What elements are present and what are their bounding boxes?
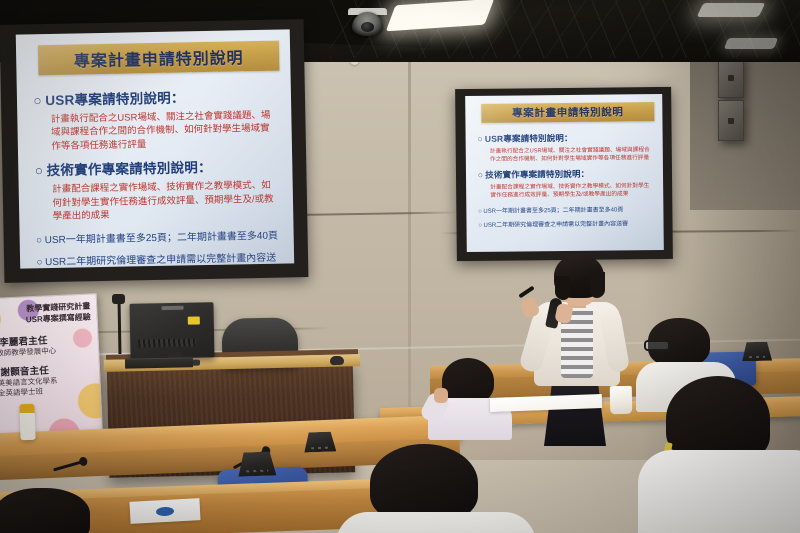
paper-cup — [610, 386, 632, 414]
audience-hair — [370, 444, 478, 522]
event-banner: 教學實踐研究計畫 USR專案撰寫經驗 人：李麗君主任 教師教學發展中心 人：謝顥… — [0, 293, 103, 445]
audience-hand — [434, 388, 448, 403]
wall-speaker-icon — [718, 100, 744, 141]
bullet-icon: ○ — [36, 257, 42, 268]
wall-speaker-icon — [718, 57, 744, 98]
slide-heading-1-text: USR專案請特別說明： — [45, 91, 185, 109]
ceiling-light — [697, 3, 766, 17]
ceiling-light — [724, 38, 778, 49]
bullet-icon: ○ — [478, 170, 483, 180]
screen-surface-left: 專案計畫申請特別說明 ○USR專案請特別說明： 計畫執行配合之USR場域、關注之… — [16, 29, 294, 268]
monitor-vent — [138, 339, 196, 348]
slide-heading-2-text: 技術實作專案請特別說明： — [46, 160, 212, 178]
slide-note-1: ○USR一年期計畫書至多25頁；二年期計畫書至多40頁 — [478, 204, 653, 215]
monitor-sticker — [188, 316, 200, 324]
keyboard — [125, 357, 193, 368]
slide-body: ○USR專案請特別說明： 計畫執行配合之USR場域、關注之社會實踐議題、場域與課… — [465, 121, 663, 230]
slide-title: 專案計畫申請特別說明 — [46, 44, 272, 72]
podium-microphone-head — [112, 294, 125, 304]
slide-title-bar: 專案計畫申請特別說明 — [38, 41, 280, 76]
dome-camera-icon — [352, 12, 383, 36]
audience-torso — [638, 450, 800, 533]
slide-heading-1: ○USR專案請特別說明： — [33, 85, 277, 110]
slide-paragraph-2: 計畫配合課程之實作場域、技術實作之教學模式、如何針對學生實作任務進行成效評量、預… — [35, 179, 280, 224]
screen-surface-right: 專案計畫申請特別說明 ○USR專案請特別說明： 計畫執行配合之USR場域、關注之… — [465, 94, 664, 252]
audience-member-foreground-right — [646, 376, 800, 533]
slide-note-2-text: USR二年期研究倫理審查之申請需以完整計畫內容送審 — [483, 222, 628, 230]
slide-note-1: ○USR一年期計畫書至多25頁；二年期計畫書至多40頁 — [36, 226, 280, 246]
water-bottle — [19, 404, 35, 441]
slide-paragraph-1: 計畫執行配合之USR場域、關注之社會實踐議題、場域與課程合作之間的合作機制、如何… — [34, 109, 279, 154]
slide-heading-1-text: USR專案請特別說明： — [485, 133, 573, 144]
bullet-icon: ○ — [478, 223, 482, 229]
audience-torso — [336, 512, 536, 533]
slide-right: 專案計畫申請特別說明 ○USR專案請特別說明： 計畫執行配合之USR場域、關注之… — [465, 102, 664, 252]
audience-member-foreground-center — [352, 444, 522, 533]
conference-microphone-unit — [742, 342, 772, 362]
slide-title: 專案計畫申請特別說明 — [487, 104, 649, 121]
mouse-icon — [330, 356, 344, 365]
audience-member-foreground-left — [0, 488, 114, 533]
slide-heading-2: ○技術實作專案請特別說明： — [478, 167, 653, 181]
monitor-brand-logo — [162, 306, 184, 310]
eyeglasses-icon — [644, 340, 670, 351]
projection-screen-right: 專案計畫申請特別說明 ○USR專案請特別說明： 計畫執行配合之USR場域、關注之… — [455, 87, 673, 261]
slide-note-2: ○USR二年期研究倫理審查之申請需以完整計畫內容送審 — [478, 219, 653, 230]
slide-body: ○USR專案請特別說明： 計畫執行配合之USR場域、關注之社會實踐議題、場域與課… — [17, 70, 295, 268]
podium-monitor — [129, 302, 214, 359]
slide-note-1-text: USR一年期計畫書至多25頁；二年期計畫書至多40頁 — [483, 208, 623, 215]
slide-paragraph-1: 計畫執行配合之USR場域、關注之社會實踐議題、場域與課程合作之間的合作機制、如何… — [478, 146, 654, 165]
bullet-icon: ○ — [35, 164, 44, 179]
lecture-hall-photo: 專案計畫申請特別說明 ○USR專案請特別說明： 計畫執行配合之USR場域、關注之… — [0, 0, 800, 533]
slide-paragraph-2: 計畫配合課程之實作場域、技術實作之教學模式、如何針對學生實作任務進行成效評量、預… — [478, 182, 654, 201]
bullet-icon: ○ — [33, 93, 42, 108]
slide-note-1-text: USR一年期計畫書至多25頁；二年期計畫書至多40頁 — [45, 231, 279, 246]
slide-heading-2-text: 技術實作專案請特別說明： — [485, 169, 589, 180]
bullet-icon: ○ — [36, 235, 42, 246]
bullet-icon: ○ — [478, 209, 482, 215]
banner-speaker-1: 人：李麗君主任 教師教學發展中心 — [0, 330, 92, 359]
audience-hair — [0, 488, 90, 533]
slide-heading-1: ○USR專案請特別說明： — [477, 131, 652, 145]
slide-heading-2: ○技術實作專案請特別說明： — [35, 155, 279, 180]
banner-title: 教學實踐研究計畫 USR專案撰寫經驗 — [0, 301, 91, 328]
presenter-hair-side — [590, 272, 605, 298]
bullet-icon: ○ — [477, 134, 482, 144]
slide-title-bar: 專案計畫申請特別說明 — [481, 102, 655, 123]
wall-column-seam — [408, 40, 411, 460]
printed-document — [129, 498, 200, 524]
slide-left: 專案計畫申請特別說明 ○USR專案請特別說明： 計畫執行配合之USR場域、關注之… — [16, 40, 294, 268]
banner-speaker-2: 人：謝顥音主任 英美語言文化學系 全英語學士班 — [0, 361, 94, 400]
projection-screen-left: 專案計畫申請特別說明 ○USR專案請特別說明： 計畫執行配合之USR場域、關注之… — [0, 19, 308, 283]
slide-note-2-text: USR二年期研究倫理審查之申請需以完整計畫內容送審 — [37, 253, 277, 269]
slide-note-2: ○USR二年期研究倫理審查之申請需以完整計畫內容送審 — [36, 249, 280, 269]
